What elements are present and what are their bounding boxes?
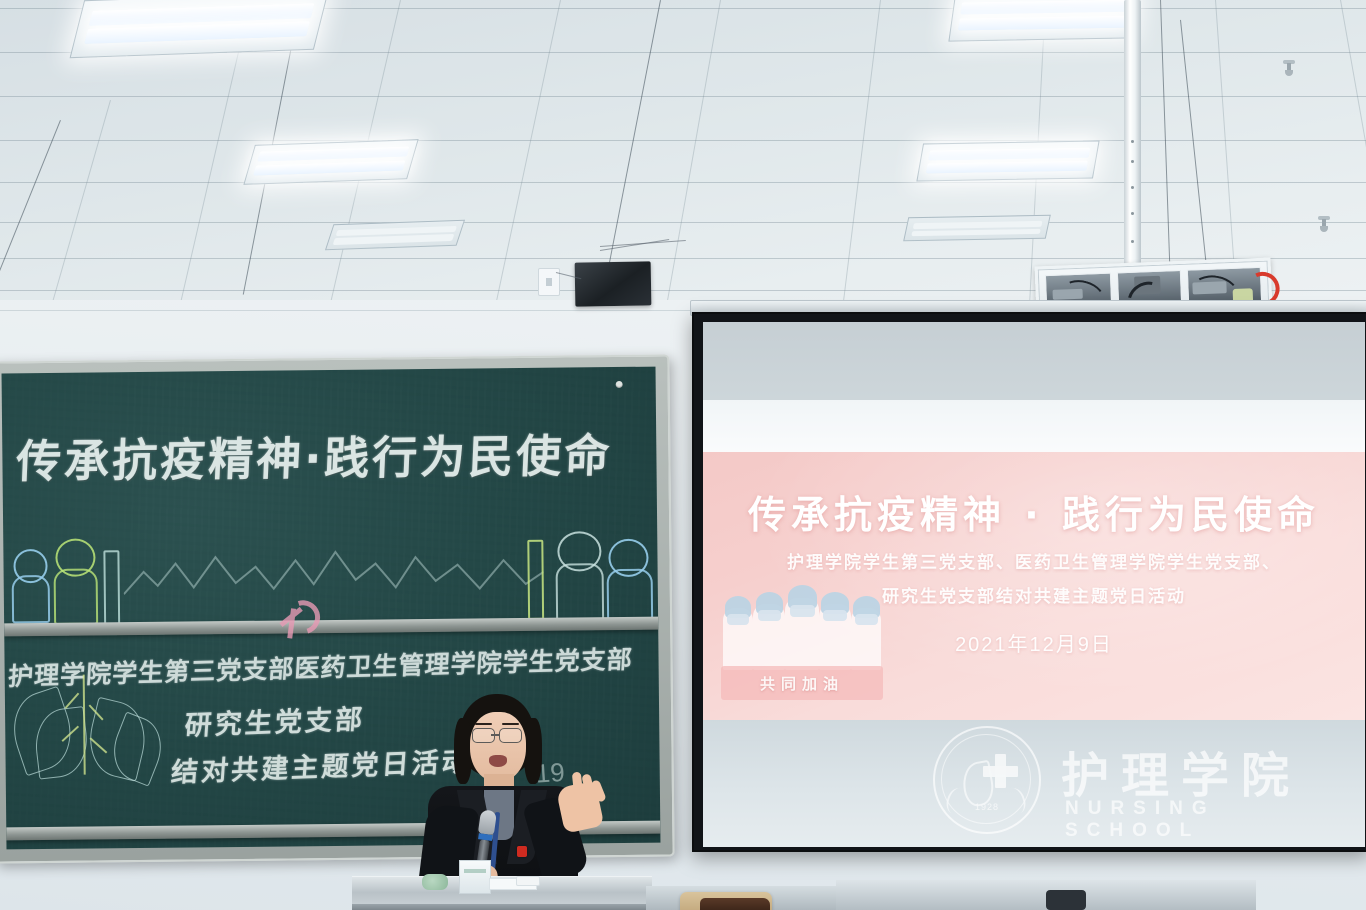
nursing-school-watermark: 1928 护理学院 NURSING SCHOOL [933, 726, 1353, 846]
desk-box-item [459, 860, 491, 894]
sprinkler-head-icon [1318, 216, 1330, 232]
slide-title: 传承抗疫精神 · 践行为民使命 [703, 484, 1365, 539]
chalk-medical-worker [551, 531, 604, 618]
ceiling-light-panel [948, 0, 1139, 42]
bag-on-desk [700, 898, 770, 910]
ceiling-light-panel [903, 215, 1051, 241]
watermark-english-name: NURSING SCHOOL [1065, 798, 1353, 842]
blackboard-headline: 传承抗疫精神·践行为民使命 [15, 419, 658, 491]
chalk-syringe [103, 550, 120, 626]
projection-screen: 传承抗疫精神 · 践行为民使命 护理学院学生第三党支部、医药卫生管理学院学生党支… [692, 312, 1366, 852]
party-lapel-pin [517, 846, 527, 857]
chalk-medical-worker [51, 538, 98, 620]
chalk-medical-worker [603, 539, 654, 618]
ceiling-light-panel [325, 220, 465, 251]
ceiling-light-panel [70, 0, 329, 58]
presentation-slide: 传承抗疫精神 · 践行为民使命 护理学院学生第三党支部、医药卫生管理学院学生党支… [703, 452, 1365, 720]
projector-mount-pole [1124, 0, 1141, 268]
desk-pen-item [516, 876, 540, 886]
chalk-medical-worker [9, 549, 50, 619]
desk-cloth [422, 874, 448, 890]
dark-object-on-desk [1046, 890, 1086, 910]
slide-subtitle-line1: 护理学院学生第三党支部、医药卫生管理学院学生党支部、 [703, 548, 1365, 573]
watermark-emblem-year: 1928 [967, 802, 1007, 812]
blackboard-line-3: 研究生党支部 [184, 697, 367, 743]
watermark-chinese-name: 护理学院 [1061, 736, 1301, 806]
eyeglasses-icon [499, 728, 522, 743]
classroom-scene: 传承抗疫精神·践行为民使命 [0, 0, 1366, 910]
slide-cartoon-medical-workers: 共同加油 [717, 580, 887, 700]
cpc-party-emblem-chalk [272, 598, 318, 642]
slide-cartoon-banner-text: 共同加油 [721, 666, 883, 700]
wall-speaker [575, 261, 652, 306]
ceiling-light-panel [243, 139, 418, 185]
ceiling-light-panel [916, 140, 1099, 181]
chalk-syringe [527, 540, 544, 620]
chalk-skyline-drawing [123, 538, 544, 602]
sprinkler-head-icon [1283, 60, 1295, 76]
